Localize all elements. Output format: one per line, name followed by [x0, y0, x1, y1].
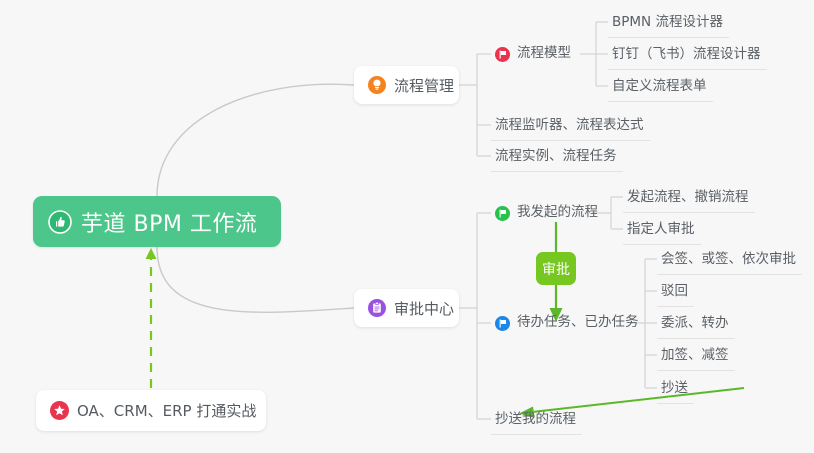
thumbs-up-icon [48, 210, 72, 234]
leaf-cc-to-me-processes[interactable]: 抄送我的流程 [491, 405, 582, 435]
leaf-label: 驳回 [661, 285, 688, 299]
flag-icon [495, 47, 510, 62]
leaf-label: 流程实例、流程任务 [495, 150, 617, 164]
leaf-carbon-copy[interactable]: 抄送 [657, 374, 694, 404]
branch-label-approval-center: 审批中心 [394, 298, 454, 319]
leaf-todo-done-tasks[interactable]: 待办任务、已办任务 [491, 308, 645, 338]
leaf-label: 自定义流程表单 [612, 80, 707, 94]
flag-icon [495, 316, 510, 331]
clipboard-icon [368, 299, 386, 317]
leaf-process-model[interactable]: 流程模型 [491, 39, 577, 69]
leaf-process-listener[interactable]: 流程监听器、流程表达式 [491, 111, 650, 141]
leaf-process-instance[interactable]: 流程实例、流程任务 [491, 142, 623, 172]
leaf-label: 会签、或签、依次审批 [661, 253, 796, 267]
leaf-dingtalk-designer[interactable]: 钉钉（飞书）流程设计器 [608, 40, 767, 70]
leaf-label: 抄送 [661, 382, 688, 396]
leaf-bpmn-designer[interactable]: BPMN 流程设计器 [608, 8, 729, 38]
integration-node[interactable]: OA、CRM、ERP 打通实战 [36, 390, 266, 431]
mindmap-canvas: 芋道 BPM 工作流 流程管理 流程模型 BPMN 流程设计器 钉钉（飞书）流程 [0, 0, 814, 453]
approval-badge: 审批 [536, 252, 576, 285]
leaf-label: 待办任务、已办任务 [517, 316, 639, 330]
leaf-label: 流程模型 [517, 47, 571, 61]
branch-label-process-management: 流程管理 [394, 75, 454, 96]
star-icon [50, 401, 69, 420]
lightbulb-icon [368, 76, 386, 94]
leaf-assignee-approval[interactable]: 指定人审批 [623, 215, 701, 245]
leaf-label: 委派、转办 [661, 317, 729, 331]
leaf-label: 钉钉（飞书）流程设计器 [612, 48, 761, 62]
dashed-up-arrow [146, 248, 157, 388]
root-node[interactable]: 芋道 BPM 工作流 [33, 196, 281, 247]
leaf-add-remove-sign[interactable]: 加签、减签 [657, 341, 735, 371]
leaf-label: BPMN 流程设计器 [612, 16, 723, 30]
integration-label: OA、CRM、ERP 打通实战 [77, 400, 256, 421]
leaf-start-cancel-process[interactable]: 发起流程、撤销流程 [623, 183, 755, 213]
leaf-label: 流程监听器、流程表达式 [495, 119, 644, 133]
branch-node-process-management[interactable]: 流程管理 [354, 66, 459, 104]
leaf-delegate-transfer[interactable]: 委派、转办 [657, 309, 735, 339]
leaf-label: 加签、减签 [661, 349, 729, 363]
branch-node-approval-center[interactable]: 审批中心 [354, 289, 459, 327]
approval-badge-label: 审批 [542, 259, 570, 279]
leaf-countersign[interactable]: 会签、或签、依次审批 [657, 245, 802, 275]
leaf-label: 发起流程、撤销流程 [627, 191, 749, 205]
leaf-reject[interactable]: 驳回 [657, 277, 694, 307]
leaf-label: 指定人审批 [627, 223, 695, 237]
flag-icon [495, 206, 510, 221]
leaf-label: 我发起的流程 [517, 206, 598, 220]
leaf-my-started-processes[interactable]: 我发起的流程 [491, 198, 604, 228]
root-label: 芋道 BPM 工作流 [81, 206, 257, 238]
leaf-label: 抄送我的流程 [495, 413, 576, 427]
leaf-custom-form[interactable]: 自定义流程表单 [608, 72, 713, 102]
